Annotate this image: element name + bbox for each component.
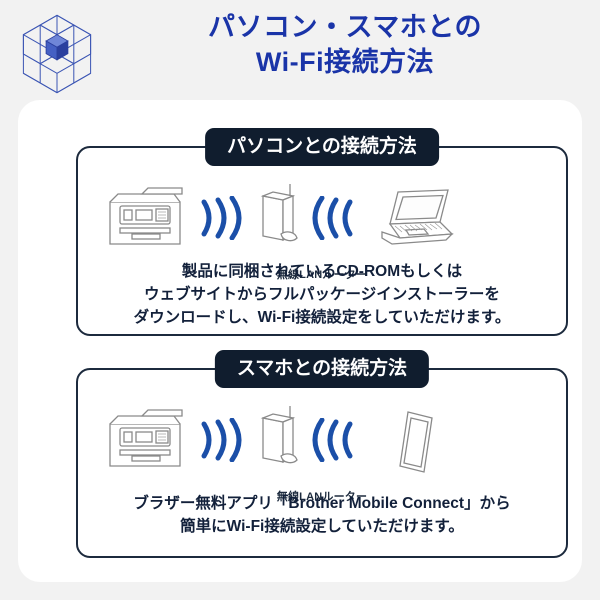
wifi-wave-left-icon — [198, 418, 244, 467]
printer-icon — [102, 186, 188, 253]
card-pc-text-line-2: ウェブサイトからフルパッケージインストーラーを — [78, 283, 566, 306]
card-pc-connection: パソコンとの接続方法 — [76, 146, 568, 336]
wireless-router-icon — [253, 182, 305, 249]
smartphone-icon — [394, 406, 446, 483]
card-sp-badge: スマホとの接続方法 — [215, 350, 429, 388]
page-title-line-2: Wi-Fi接続方法 — [110, 45, 580, 80]
card-sp-illustration: 無線LANルーター — [78, 404, 566, 486]
card-sp-body-text: ブラザー無料アプリ「Brother Mobile Connect」から 簡単にW… — [78, 492, 566, 538]
laptop-icon — [378, 188, 456, 251]
wifi-wave-right-icon — [310, 418, 356, 467]
card-pc-badge: パソコンとの接続方法 — [205, 128, 439, 166]
page-title-line-1: パソコン・スマホとの — [110, 10, 580, 45]
card-pc-body-text: 製品に同梱されているCD-ROMもしくは ウェブサイトからフルパッケージインスト… — [78, 260, 566, 329]
card-pc-text-line-3: ダウンロードし、Wi-Fi接続設定をしていただけます。 — [78, 306, 566, 329]
card-sp-text-line-1: ブラザー無料アプリ「Brother Mobile Connect」から — [78, 492, 566, 515]
isometric-cube-hexagon-logo-icon — [14, 12, 100, 96]
content-panel: パソコンとの接続方法 — [18, 100, 582, 582]
wireless-router-icon — [253, 404, 305, 471]
wifi-wave-left-icon — [198, 196, 244, 245]
page-header: パソコン・スマホとの Wi-Fi接続方法 — [0, 0, 600, 100]
card-pc-text-line-1: 製品に同梱されているCD-ROMもしくは — [78, 260, 566, 283]
card-sp-text-line-2: 簡単にWi-Fi接続設定していただけます。 — [78, 515, 566, 538]
wifi-wave-right-icon — [310, 196, 356, 245]
page-root: パソコン・スマホとの Wi-Fi接続方法 パソコンとの接続方法 — [0, 0, 600, 600]
card-smartphone-connection: スマホとの接続方法 — [76, 368, 568, 558]
card-pc-illustration: 無線LANルーター — [78, 182, 566, 264]
page-title: パソコン・スマホとの Wi-Fi接続方法 — [110, 10, 580, 80]
printer-icon — [102, 408, 188, 475]
